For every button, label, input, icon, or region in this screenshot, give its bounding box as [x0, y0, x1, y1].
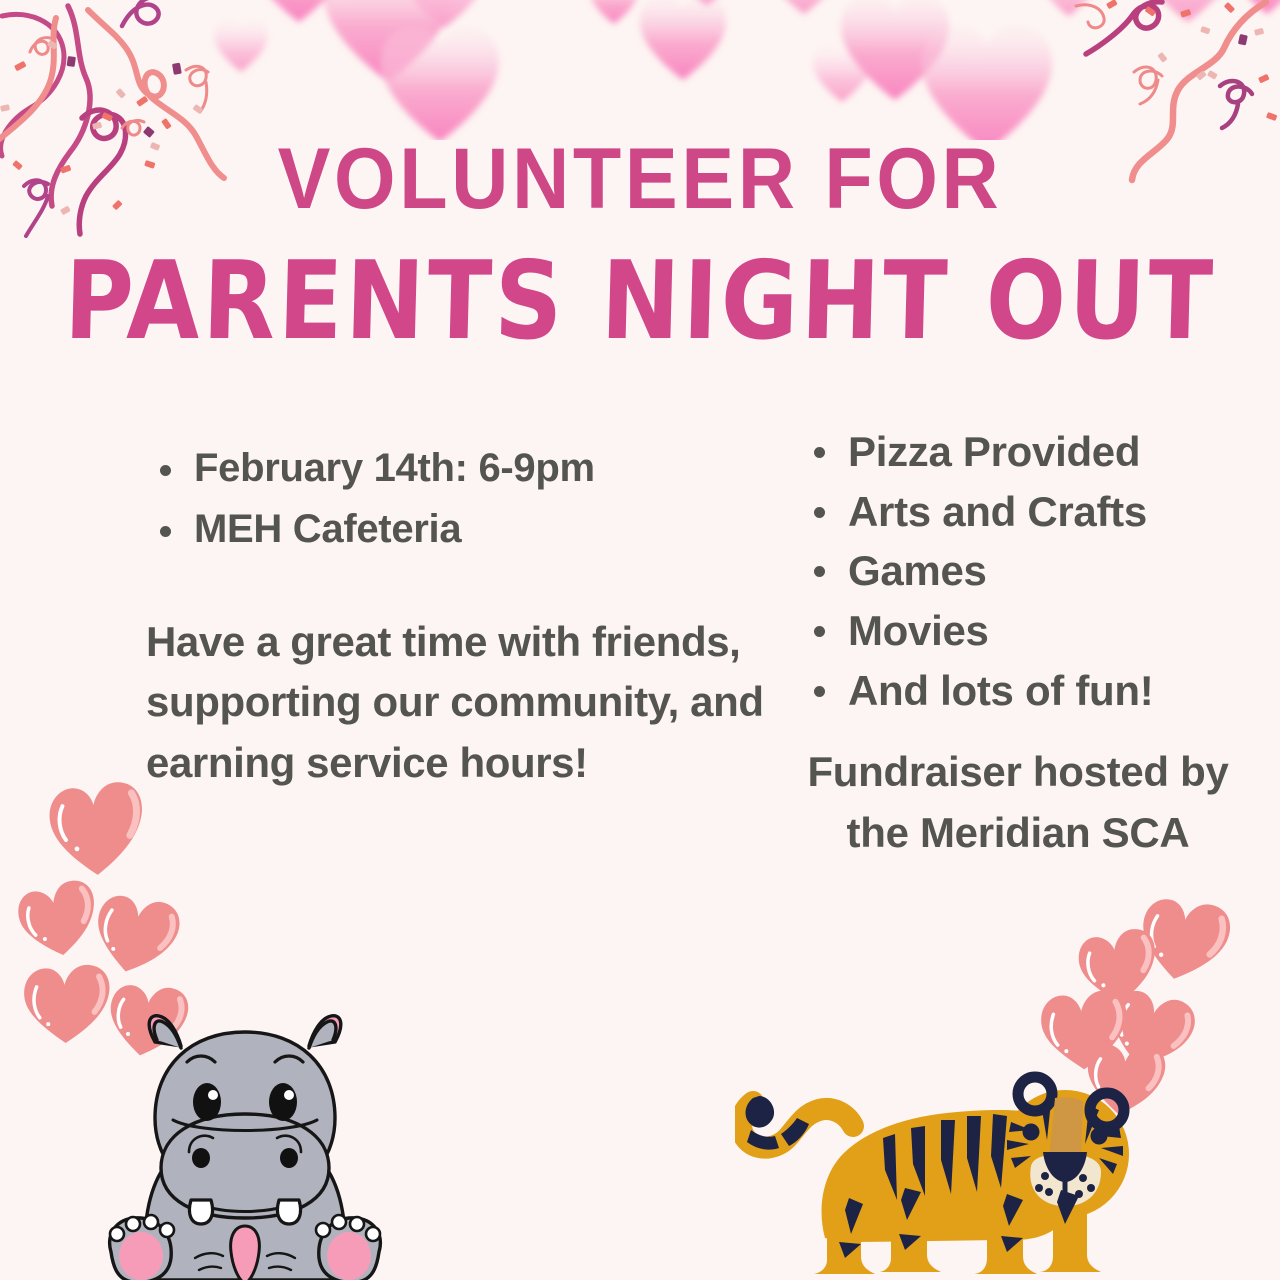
fundraiser-note: Fundraiser hosted by the Meridian SCA	[800, 742, 1250, 864]
heart-cluster-right	[1028, 888, 1263, 1118]
list-item: February 14th: 6-9pm	[146, 438, 776, 499]
list-item: MEH Cafeteria	[146, 499, 776, 560]
floating-hearts-decoration	[0, 0, 1280, 140]
list-item: Arts and Crafts	[800, 482, 1250, 542]
poster: VOLUNTEER FOR PARENTS NIGHT OUT February…	[0, 0, 1280, 1280]
activities-list: Pizza Provided Arts and Crafts Games Mov…	[800, 422, 1250, 720]
list-item: Movies	[800, 601, 1250, 661]
activities-column: Pizza Provided Arts and Crafts Games Mov…	[800, 422, 1250, 906]
event-details-list: February 14th: 6-9pm MEH Cafeteria	[146, 438, 776, 560]
list-item: Pizza Provided	[800, 422, 1250, 482]
list-item: And lots of fun!	[800, 661, 1250, 721]
title-line-1: VOLUNTEER FOR	[51, 136, 1229, 222]
hippo-illustration	[95, 1008, 395, 1280]
title-line-2: PARENTS NIGHT OUT	[18, 248, 1262, 356]
tiger-illustration	[735, 1058, 1135, 1280]
details-column: February 14th: 6-9pm MEH Cafeteria Have …	[146, 438, 776, 835]
list-item: Games	[800, 541, 1250, 601]
invitation-paragraph: Have a great time with friends, supporti…	[146, 612, 776, 793]
